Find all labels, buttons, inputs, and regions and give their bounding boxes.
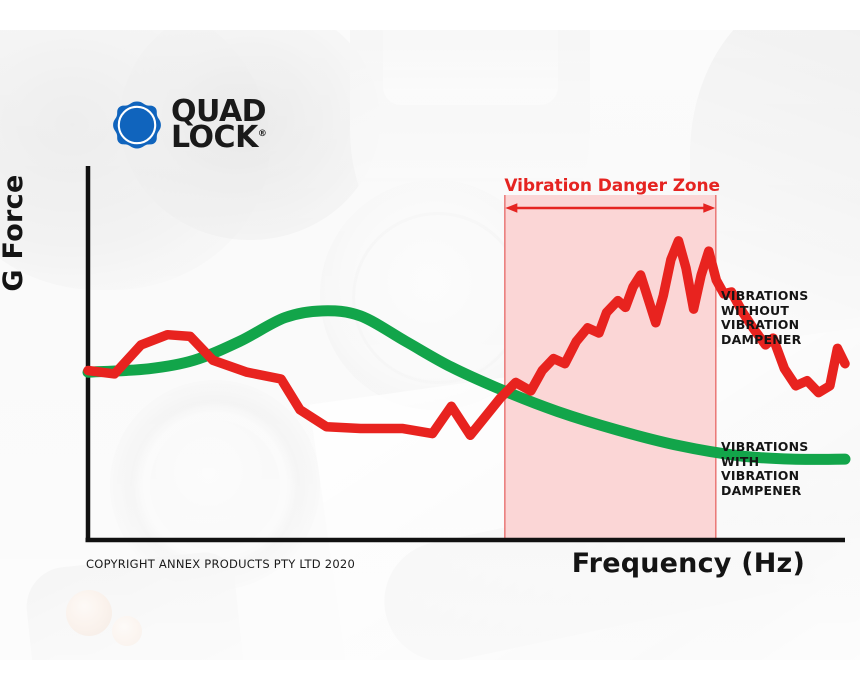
callout-without-line-2: WITHOUT [721, 304, 808, 319]
callout-with-line-3: VIBRATION [721, 469, 808, 484]
callout-with-dampener: VIBRATIONS WITH VIBRATION DAMPENER [721, 440, 808, 498]
callout-with-line-1: VIBRATIONS [721, 440, 808, 455]
callout-without-dampener: VIBRATIONS WITHOUT VIBRATION DAMPENER [721, 289, 808, 347]
x-axis-label: Frequency (Hz) [572, 548, 805, 579]
callout-without-line-4: DAMPENER [721, 333, 808, 348]
callout-with-line-2: WITH [721, 455, 808, 470]
callout-without-line-1: VIBRATIONS [721, 289, 808, 304]
copyright-notice: COPYRIGHT ANNEX PRODUCTS PTY LTD 2020 [86, 557, 355, 571]
y-axis-label: G Force [0, 168, 29, 298]
callout-with-line-4: DAMPENER [721, 484, 808, 499]
danger-zone-title: Vibration Danger Zone [504, 176, 716, 196]
infographic-canvas: QUAD LOCK® G Force Frequency (Hz) Vibrat… [0, 0, 860, 687]
callout-without-line-3: VIBRATION [721, 318, 808, 333]
